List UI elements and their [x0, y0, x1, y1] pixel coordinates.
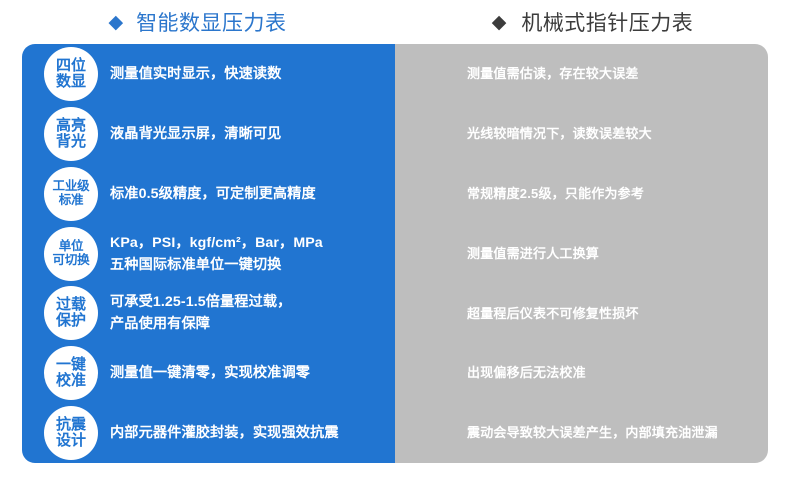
feature-text: KPa，PSI，kgf/cm²，Bar，MPa 五种国际标准单位一键切换	[110, 232, 323, 276]
badge-line-2: 标准	[59, 194, 84, 207]
feature-text: 内部元器件灌胶封装，实现强效抗震	[110, 422, 339, 444]
feature-badge: 抗震 设计	[44, 406, 98, 460]
drawback-row: 震动会导致较大误差产生，内部填充油泄漏	[467, 403, 768, 463]
diamond-icon: ◆	[492, 13, 507, 32]
feature-line: 内部元器件灌胶封装，实现强效抗震	[110, 422, 339, 444]
drawback-row: 常规精度2.5级，只能作为参考	[467, 164, 768, 224]
drawback-text: 出现偏移后无法校准	[467, 363, 586, 383]
drawback-list: 测量值需估读，存在较大误差 光线较暗情况下，读数误差较大 常规精度2.5级，只能…	[395, 44, 768, 463]
header-left-title: 智能数显压力表	[136, 13, 287, 34]
drawback-text: 测量值需进行人工换算	[467, 244, 599, 264]
feature-line: 五种国际标准单位一键切换	[110, 254, 323, 276]
feature-badge: 过载 保护	[44, 286, 98, 340]
mechanical-gauge-panel: 测量值需估读，存在较大误差 光线较暗情况下，读数误差较大 常规精度2.5级，只能…	[395, 44, 768, 463]
feature-line: 液晶背光显示屏，清晰可见	[110, 123, 281, 145]
feature-badge: 单位 可切换	[44, 227, 98, 281]
feature-text: 标准0.5级精度，可定制更高精度	[110, 183, 316, 205]
feature-text: 测量值一键清零，实现校准调零	[110, 362, 310, 384]
badge-line-2: 背光	[56, 134, 86, 150]
feature-row: 抗震 设计 内部元器件灌胶封装，实现强效抗震	[44, 403, 395, 463]
header-right-title: 机械式指针压力表	[521, 13, 693, 34]
feature-line: 产品使用有保障	[110, 313, 291, 335]
feature-row: 四位 数显 测量值实时显示，快速读数	[44, 44, 395, 104]
badge-line-1: 一键	[56, 357, 86, 373]
badge-line-1: 四位	[56, 58, 86, 74]
badge-line-2: 可切换	[53, 254, 90, 267]
badge-line-2: 校准	[56, 373, 86, 389]
feature-badge: 工业级 标准	[44, 167, 98, 221]
drawback-text: 光线较暗情况下，读数误差较大	[467, 124, 652, 144]
drawback-row: 测量值需进行人工换算	[467, 224, 768, 284]
digital-gauge-panel: 四位 数显 测量值实时显示，快速读数 高亮 背光 液晶背光显示屏，清晰可见	[22, 44, 395, 463]
badge-line-1: 过载	[56, 297, 86, 313]
diamond-icon: ◆	[108, 13, 123, 32]
header-right: ◆ 机械式指针压力表	[395, 0, 790, 44]
feature-line: 测量值一键清零，实现校准调零	[110, 362, 310, 384]
feature-badge: 一键 校准	[44, 346, 98, 400]
feature-text: 测量值实时显示，快速读数	[110, 63, 281, 85]
feature-row: 一键 校准 测量值一键清零，实现校准调零	[44, 343, 395, 403]
drawback-text: 常规精度2.5级，只能作为参考	[467, 184, 644, 204]
feature-row: 单位 可切换 KPa，PSI，kgf/cm²，Bar，MPa 五种国际标准单位一…	[44, 224, 395, 284]
badge-line-1: 工业级	[53, 180, 90, 193]
header-left: ◆ 智能数显压力表	[0, 0, 395, 44]
feature-line: 标准0.5级精度，可定制更高精度	[110, 183, 316, 205]
feature-line: 测量值实时显示，快速读数	[110, 63, 281, 85]
comparison-headers: ◆ 智能数显压力表 ◆ 机械式指针压力表	[0, 0, 790, 44]
feature-badge: 四位 数显	[44, 47, 98, 101]
badge-line-1: 抗震	[56, 417, 86, 433]
drawback-text: 震动会导致较大误差产生，内部填充油泄漏	[467, 423, 718, 443]
badge-line-2: 保护	[56, 313, 86, 329]
drawback-row: 光线较暗情况下，读数误差较大	[467, 104, 768, 164]
badge-line-2: 数显	[56, 74, 86, 90]
feature-list: 四位 数显 测量值实时显示，快速读数 高亮 背光 液晶背光显示屏，清晰可见	[22, 44, 395, 463]
badge-line-1: 单位	[59, 240, 84, 253]
feature-line: KPa，PSI，kgf/cm²，Bar，MPa	[110, 232, 323, 254]
drawback-text: 测量值需估读，存在较大误差	[467, 64, 639, 84]
feature-badge: 高亮 背光	[44, 107, 98, 161]
feature-row: 高亮 背光 液晶背光显示屏，清晰可见	[44, 104, 395, 164]
drawback-row: 出现偏移后无法校准	[467, 343, 768, 403]
drawback-row: 超量程后仪表不可修复性损坏	[467, 283, 768, 343]
feature-row: 过载 保护 可承受1.25-1.5倍量程过载， 产品使用有保障	[44, 283, 395, 343]
feature-text: 可承受1.25-1.5倍量程过载， 产品使用有保障	[110, 291, 291, 335]
badge-line-1: 高亮	[56, 118, 86, 134]
feature-text: 液晶背光显示屏，清晰可见	[110, 123, 281, 145]
comparison-panels: 四位 数显 测量值实时显示，快速读数 高亮 背光 液晶背光显示屏，清晰可见	[22, 44, 768, 463]
drawback-text: 超量程后仪表不可修复性损坏	[467, 304, 639, 324]
drawback-row: 测量值需估读，存在较大误差	[467, 44, 768, 104]
badge-line-2: 设计	[56, 433, 86, 449]
feature-row: 工业级 标准 标准0.5级精度，可定制更高精度	[44, 164, 395, 224]
feature-line: 可承受1.25-1.5倍量程过载，	[110, 291, 291, 313]
